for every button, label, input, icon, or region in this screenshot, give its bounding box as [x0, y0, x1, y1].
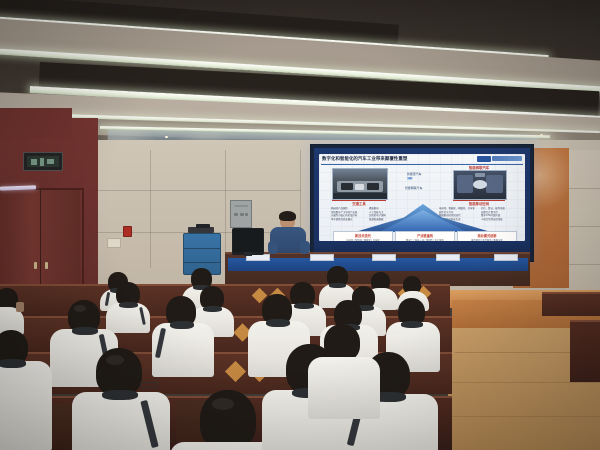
wall-seam-v2 — [150, 150, 151, 268]
right-wall-seam-h1 — [566, 188, 600, 189]
idc-logo-icon — [477, 156, 491, 162]
side-desk-upper — [542, 292, 600, 316]
cart-cables — [196, 224, 210, 228]
right-wall-seam-h2 — [566, 226, 600, 227]
student-collar — [0, 359, 26, 368]
right-wall-seam-h3 — [566, 264, 600, 265]
student-torso — [0, 361, 52, 450]
presenter-arm-right — [300, 241, 310, 254]
student-collar — [294, 303, 314, 309]
wall-seam-v3 — [225, 150, 226, 268]
left-bullet-column-1: 机械化产品属性 传统整车厂主导的产业链 以硬件为核心的价值分布 单车销售的商业模… — [331, 207, 367, 222]
av-wall-panel[interactable] — [230, 200, 252, 228]
door-handle-right[interactable] — [45, 262, 48, 269]
av-panel-label — [234, 205, 248, 207]
slide-title: 数字化和智能化的汽车工业带来颠覆性重塑 — [322, 156, 407, 162]
org-logo-icon — [492, 156, 522, 161]
center-bottom-label: 智能网联汽车 — [405, 186, 422, 190]
student-collar — [203, 306, 222, 312]
av-panel-port-1 — [234, 213, 238, 216]
bottom-box-3: 商业模式创新 硬件盈利 / 软件服务 / 数据运营 — [457, 231, 517, 241]
slide-logo-group — [477, 155, 523, 162]
bottom-box-2: 产业链重构 整车厂 / 科技公司 / 零部件 / 出行服务 — [395, 231, 455, 241]
wall-seam-h1 — [96, 190, 301, 191]
confidence-monitor[interactable] — [232, 228, 264, 255]
lecture-hall-photo: 数字化和智能化的汽车工业带来颠覆性重塑 交通工具 — [0, 0, 600, 450]
floor-plank-seam-2 — [450, 382, 600, 383]
chevron-right-icon: »» — [407, 176, 412, 182]
presentation-slide: 数字化和智能化的汽车工业带来颠覆性重塑 交通工具 — [319, 154, 525, 241]
right-bullet-column-2: 芯片、算法、操作系统 高算力计算平台 整车OTA持续升级 人机共驾到自动驾驶 — [481, 207, 521, 222]
student-collar — [102, 390, 138, 400]
screen-display-area: 数字化和智能化的汽车工业带来颠覆性重塑 交通工具 — [314, 148, 530, 258]
downlight-3 — [540, 134, 543, 136]
display-segment-2 — [40, 158, 44, 166]
student-collar — [72, 327, 98, 335]
student-collar — [170, 321, 194, 329]
right-photo-caption: 智能移动空间 — [453, 201, 505, 206]
student-hair-highlight — [74, 305, 86, 312]
student-torso — [308, 357, 380, 419]
student-hair-highlight — [212, 398, 234, 410]
student-hair-highlight — [106, 355, 124, 365]
presenter-arm-left — [268, 241, 278, 254]
name-placard-2 — [310, 254, 334, 261]
wall-mounted-control-display[interactable] — [23, 152, 63, 171]
light-switch-plate[interactable] — [107, 238, 121, 248]
monitor-stand — [244, 252, 252, 256]
av-panel-port-3 — [245, 213, 248, 216]
name-placard-4 — [436, 254, 460, 261]
cart-shelf-2 — [184, 262, 220, 263]
cart-shelf-1 — [184, 248, 220, 249]
name-placard-3 — [372, 254, 396, 261]
student-head — [324, 324, 360, 361]
door-handle-left[interactable] — [34, 262, 37, 269]
left-wood-wall-upper — [0, 108, 72, 138]
student-collar — [401, 321, 423, 328]
display-segment-1 — [31, 159, 37, 165]
display-segment-3 — [47, 159, 54, 164]
left-photo-car-dashboard — [332, 168, 388, 200]
projection-screen[interactable]: 数字化和智能化的汽车工业带来颠覆性重塑 交通工具 — [310, 144, 534, 262]
downlight-1 — [165, 136, 168, 138]
student-collar — [119, 302, 138, 308]
right-wall-beige — [566, 150, 600, 300]
av-panel-port-2 — [240, 213, 244, 216]
student-neck — [16, 302, 24, 312]
student-glasses-icon — [140, 382, 158, 388]
side-desk-lower — [570, 320, 600, 382]
name-placard-5 — [494, 254, 518, 261]
presenter-hair — [279, 211, 296, 221]
student-collar — [266, 319, 290, 327]
bottom-box-1: 新技术迭代 电动化 / 智能化 / 网联化 / 共享化 — [333, 231, 393, 241]
right-photo-smart-cabin — [453, 170, 507, 200]
left-photo-caption: 交通工具 — [332, 201, 386, 206]
fire-alarm-call-point[interactable] — [123, 226, 132, 237]
monitor-screen — [233, 229, 263, 252]
student-collar — [329, 283, 346, 288]
floor-plank-seam-3 — [448, 416, 600, 417]
